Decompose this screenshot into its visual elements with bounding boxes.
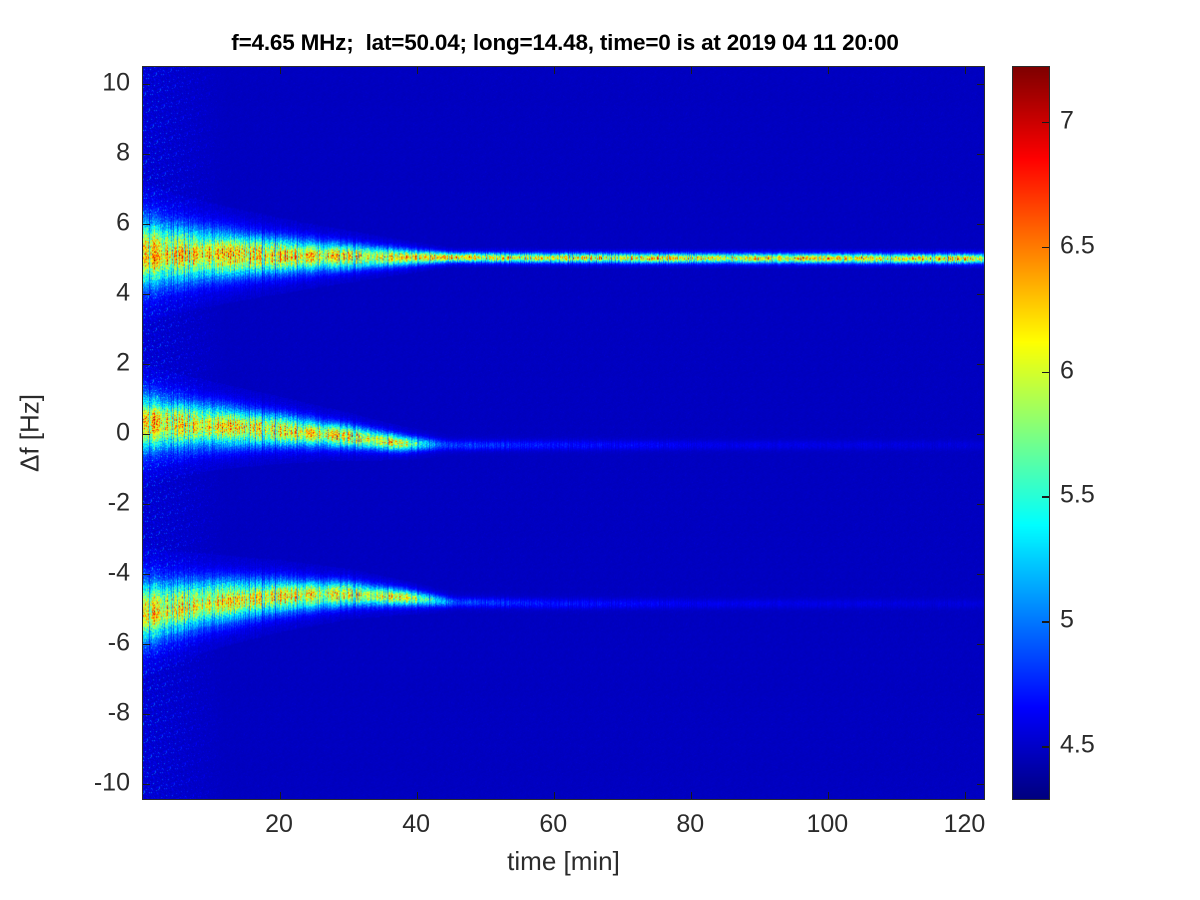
y-tick-mark <box>977 84 984 85</box>
colorbar-gradient <box>1013 67 1049 799</box>
x-tick-label: 40 <box>402 810 430 839</box>
y-tick-mark <box>977 644 984 645</box>
x-tick-label: 60 <box>539 810 567 839</box>
colorbar-tick-mark <box>1042 496 1049 498</box>
y-tick-mark <box>977 224 984 225</box>
y-tick-label: 8 <box>116 139 130 168</box>
colorbar-tick-label: 5 <box>1060 606 1074 635</box>
y-axis-label: Δf [Hz] <box>15 394 46 472</box>
x-tick-mark <box>554 792 555 799</box>
y-tick-mark <box>143 784 150 785</box>
x-tick-mark <box>828 792 829 799</box>
y-tick-label: 0 <box>116 419 130 448</box>
x-axis-label: time [min] <box>142 846 985 877</box>
y-tick-mark <box>143 364 150 365</box>
y-tick-label: 4 <box>116 279 130 308</box>
y-tick-mark <box>977 714 984 715</box>
y-tick-mark <box>977 294 984 295</box>
spectrogram-axes <box>142 66 985 800</box>
x-tick-mark <box>828 67 829 74</box>
y-tick-mark <box>977 504 984 505</box>
y-tick-label: -8 <box>108 698 130 727</box>
y-tick-mark <box>977 434 984 435</box>
y-tick-label: -6 <box>108 628 130 657</box>
colorbar-tick-label: 5.5 <box>1060 481 1095 510</box>
y-tick-mark <box>143 154 150 155</box>
y-tick-mark <box>143 714 150 715</box>
x-tick-mark <box>417 67 418 74</box>
colorbar-tick-mark <box>1042 247 1049 249</box>
y-tick-mark <box>977 364 984 365</box>
y-tick-mark <box>977 574 984 575</box>
y-tick-mark <box>143 84 150 85</box>
plot-title: f=4.65 MHz; lat=50.04; long=14.48, time=… <box>0 30 1130 56</box>
spectrogram-image <box>143 67 984 799</box>
colorbar <box>1012 66 1050 800</box>
figure-canvas: f=4.65 MHz; lat=50.04; long=14.48, time=… <box>0 0 1200 900</box>
y-tick-mark <box>143 644 150 645</box>
colorbar-tick-mark <box>1042 372 1049 374</box>
y-tick-mark <box>977 784 984 785</box>
x-tick-mark <box>965 792 966 799</box>
x-tick-mark <box>554 67 555 74</box>
x-tick-mark <box>691 67 692 74</box>
y-tick-label: -4 <box>108 558 130 587</box>
y-tick-mark <box>143 294 150 295</box>
x-tick-mark <box>965 67 966 74</box>
colorbar-tick-mark <box>1042 621 1049 623</box>
y-tick-label: 6 <box>116 209 130 238</box>
y-tick-mark <box>143 224 150 225</box>
colorbar-tick-label: 4.5 <box>1060 731 1095 760</box>
x-tick-mark <box>280 67 281 74</box>
colorbar-tick-mark <box>1042 122 1049 124</box>
x-tick-mark <box>280 792 281 799</box>
y-tick-mark <box>977 154 984 155</box>
y-tick-mark <box>143 504 150 505</box>
x-tick-label: 120 <box>944 810 986 839</box>
x-tick-label: 20 <box>265 810 293 839</box>
x-tick-label: 80 <box>676 810 704 839</box>
x-tick-mark <box>417 792 418 799</box>
colorbar-tick-label: 6.5 <box>1060 231 1095 260</box>
x-tick-mark <box>691 792 692 799</box>
x-tick-label: 100 <box>807 810 849 839</box>
y-tick-mark <box>143 574 150 575</box>
y-tick-mark <box>143 434 150 435</box>
colorbar-tick-label: 7 <box>1060 106 1074 135</box>
y-tick-label: -10 <box>94 768 130 797</box>
y-tick-label: 10 <box>102 69 130 98</box>
y-tick-label: 2 <box>116 349 130 378</box>
colorbar-tick-mark <box>1042 746 1049 748</box>
colorbar-tick-label: 6 <box>1060 356 1074 385</box>
y-tick-label: -2 <box>108 488 130 517</box>
